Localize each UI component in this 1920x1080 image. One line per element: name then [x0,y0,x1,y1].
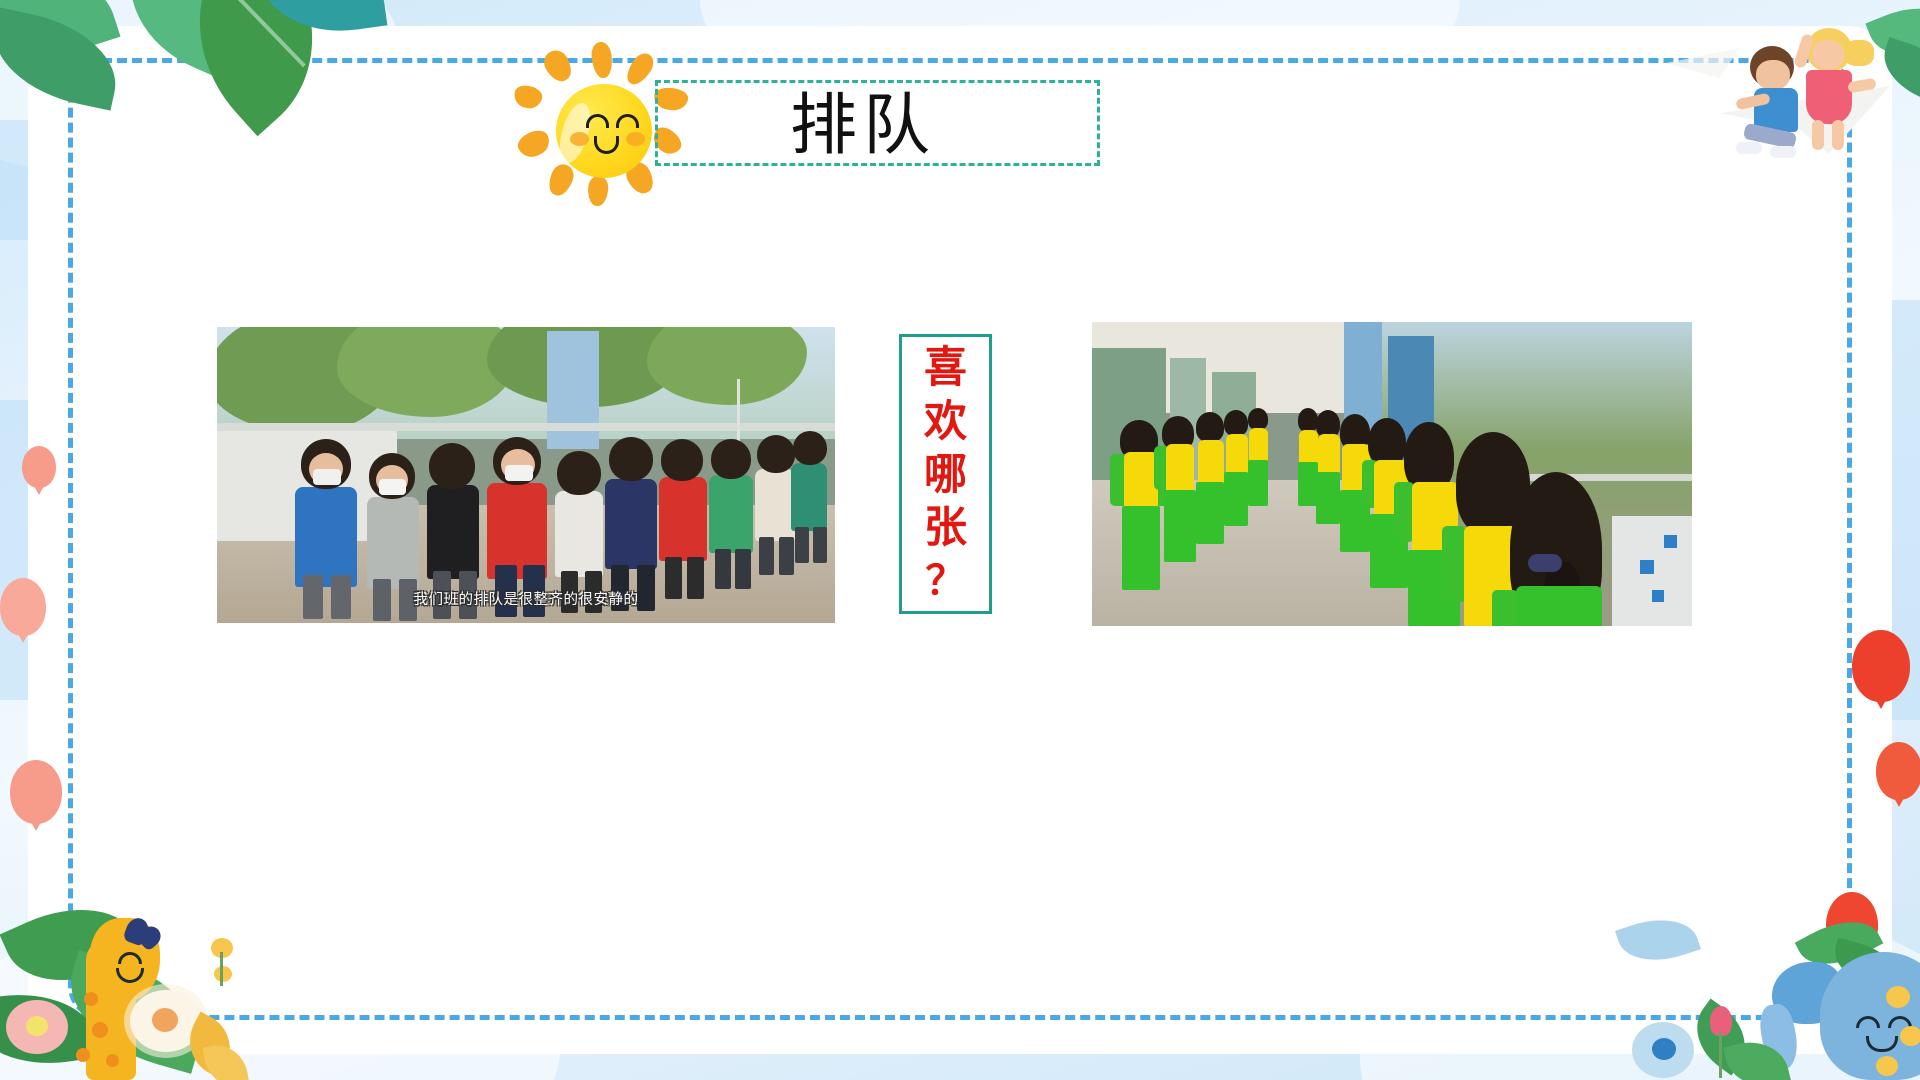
photo-right[interactable] [1092,322,1692,626]
balloon-pink-left [10,760,62,824]
balloon-red-right [1876,742,1920,800]
photo-left[interactable]: 我们班的排队是很整齐的很安静的 [217,327,835,623]
photo-left-caption: 我们班的排队是很整齐的很安静的 [217,588,835,609]
flower-center [1652,1038,1676,1060]
question-mark: ？ [926,561,966,601]
balloon-pink-left [22,446,56,488]
question-char: 哪 [924,454,967,497]
question-box: 喜 欢 哪 张 ？ [899,334,992,614]
flower-center [26,1016,48,1036]
question-char: 张 [924,507,967,550]
question-char: 喜 [924,347,967,390]
page-title: 排队 [790,82,970,168]
balloon-pink-left [0,578,46,636]
question-char: 欢 [924,401,967,444]
balloon-red-right [1852,630,1910,702]
flower-center [152,1008,178,1032]
slide-canvas: 排队 [0,0,1920,1080]
